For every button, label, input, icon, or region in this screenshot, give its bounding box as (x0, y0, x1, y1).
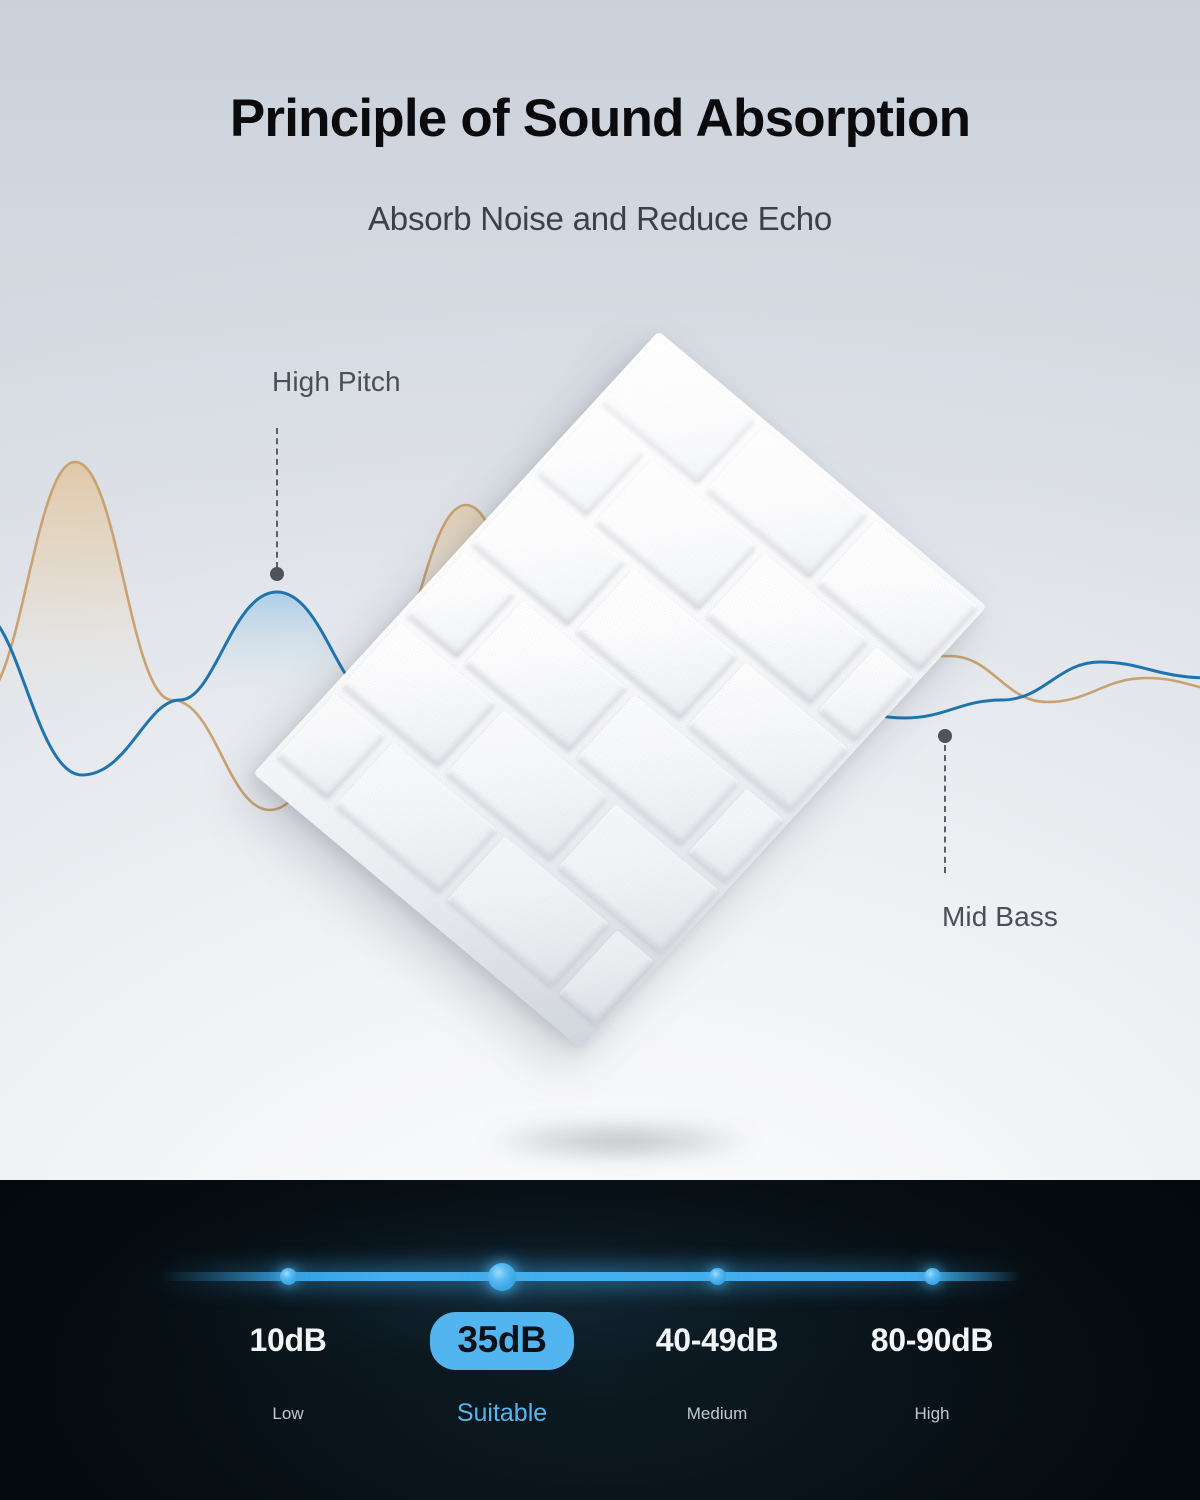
db-value-40-49db[interactable]: 40-49dB (627, 1322, 807, 1359)
slider-node-80-90db[interactable] (924, 1268, 941, 1285)
db-tag-high: High (842, 1404, 1022, 1424)
db-value-10db[interactable]: 10dB (198, 1322, 378, 1359)
page-subtitle: Absorb Noise and Reduce Echo (0, 200, 1200, 238)
db-tag-suitable: Suitable (412, 1399, 592, 1428)
callout-label-mid-bass: Mid Bass (942, 901, 1058, 933)
callout-dot-mid-bass (938, 729, 952, 743)
callout-leader-line-high-pitch (276, 428, 278, 568)
db-tag-medium: Medium (627, 1404, 807, 1424)
infographic-page: Principle of Sound Absorption Absorb Noi… (0, 0, 1200, 1500)
callout-dot-high-pitch (270, 567, 284, 581)
slider-node-35db[interactable] (488, 1263, 516, 1291)
callout-label-high-pitch: High Pitch (272, 366, 401, 398)
page-title: Principle of Sound Absorption (0, 88, 1200, 149)
slider-node-10db[interactable] (280, 1268, 297, 1285)
slider-node-40-49db[interactable] (709, 1268, 726, 1285)
db-value-80-90db[interactable]: 80-90dB (842, 1322, 1022, 1359)
callout-leader-line-mid-bass (944, 745, 946, 873)
hero-section: Principle of Sound Absorption Absorb Noi… (0, 0, 1200, 1180)
panel-drop-shadow (430, 1120, 810, 1162)
db-value-35db[interactable]: 35dB (430, 1312, 574, 1370)
db-tag-low: Low (198, 1404, 378, 1424)
